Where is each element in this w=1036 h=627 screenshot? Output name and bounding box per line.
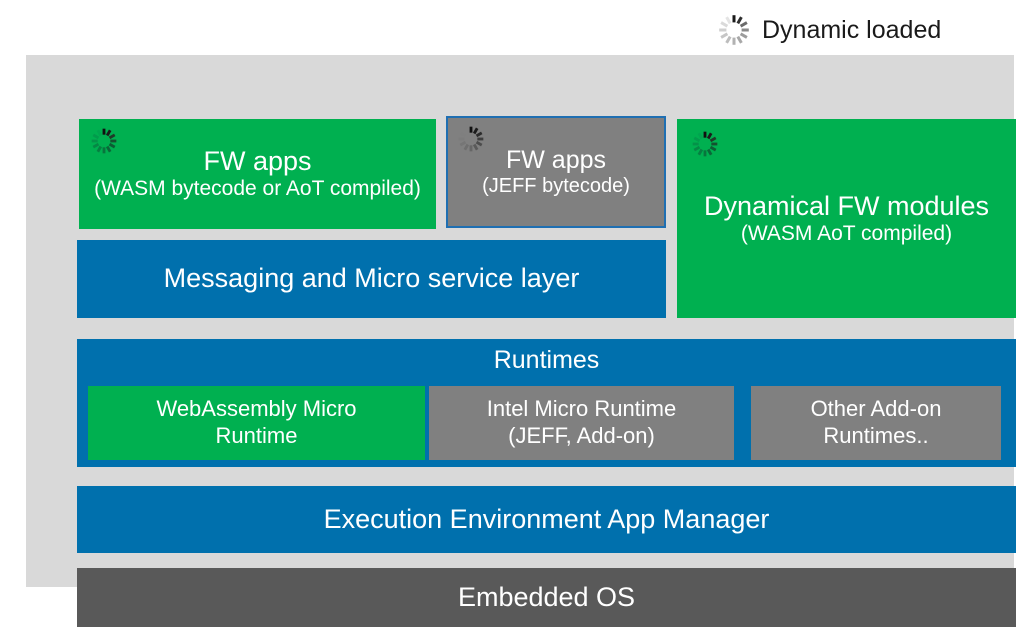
block-title: Execution Environment App Manager (324, 504, 770, 535)
block-title: FW apps (506, 146, 606, 175)
block-execution-environment-app-manager[interactable]: Execution Environment App Manager (77, 486, 1016, 553)
runtime-other-add-on-runtimes[interactable]: Other Add-on Runtimes.. (751, 386, 1001, 460)
runtime-label-line1: Other Add-on (811, 396, 942, 423)
spinner-icon (690, 129, 720, 159)
block-dynamical-fw-modules[interactable]: Dynamical FW modules (WASM AoT compiled) (677, 119, 1016, 318)
diagram-canvas: Dynamic loaded (0, 0, 1036, 613)
runtimes-title: Runtimes (494, 346, 600, 375)
block-subtitle: (WASM AoT compiled) (741, 222, 952, 246)
block-fw-apps-jeff[interactable]: FW apps (JEFF bytecode) (446, 116, 666, 228)
block-runtimes[interactable]: Runtimes WebAssembly Micro Runtime Intel… (77, 339, 1016, 467)
legend: Dynamic loaded (716, 8, 941, 52)
block-messaging-micro-service-layer[interactable]: Messaging and Micro service layer (77, 240, 666, 318)
runtime-intel-micro-runtime[interactable]: Intel Micro Runtime (JEFF, Add-on) (429, 386, 734, 460)
block-fw-apps-wasm[interactable]: FW apps (WASM bytecode or AoT compiled) (79, 119, 436, 229)
block-title: Messaging and Micro service layer (164, 263, 580, 294)
block-subtitle: (JEFF bytecode) (482, 175, 630, 198)
runtime-label-line1: Intel Micro Runtime (487, 396, 677, 423)
block-subtitle: (WASM bytecode or AoT compiled) (94, 177, 421, 201)
runtime-label-line2: Runtime (216, 423, 298, 450)
architecture-panel: FW apps (WASM bytecode or AoT compiled) (26, 55, 1014, 587)
spinner-icon (716, 12, 752, 48)
legend-label: Dynamic loaded (762, 18, 941, 43)
runtime-webassembly-micro-runtime[interactable]: WebAssembly Micro Runtime (88, 386, 425, 460)
spinner-icon (456, 124, 486, 154)
runtime-label-line2: (JEFF, Add-on) (508, 423, 655, 450)
block-title: FW apps (203, 146, 311, 177)
block-title: Dynamical FW modules (704, 191, 989, 222)
runtimes-row: WebAssembly Micro Runtime Intel Micro Ru… (77, 386, 1016, 460)
block-embedded-os[interactable]: Embedded OS (77, 568, 1016, 627)
runtime-label-line1: WebAssembly Micro (156, 396, 356, 423)
runtime-label-line2: Runtimes.. (823, 423, 928, 450)
block-title: Embedded OS (458, 582, 635, 613)
spinner-icon (89, 126, 119, 156)
